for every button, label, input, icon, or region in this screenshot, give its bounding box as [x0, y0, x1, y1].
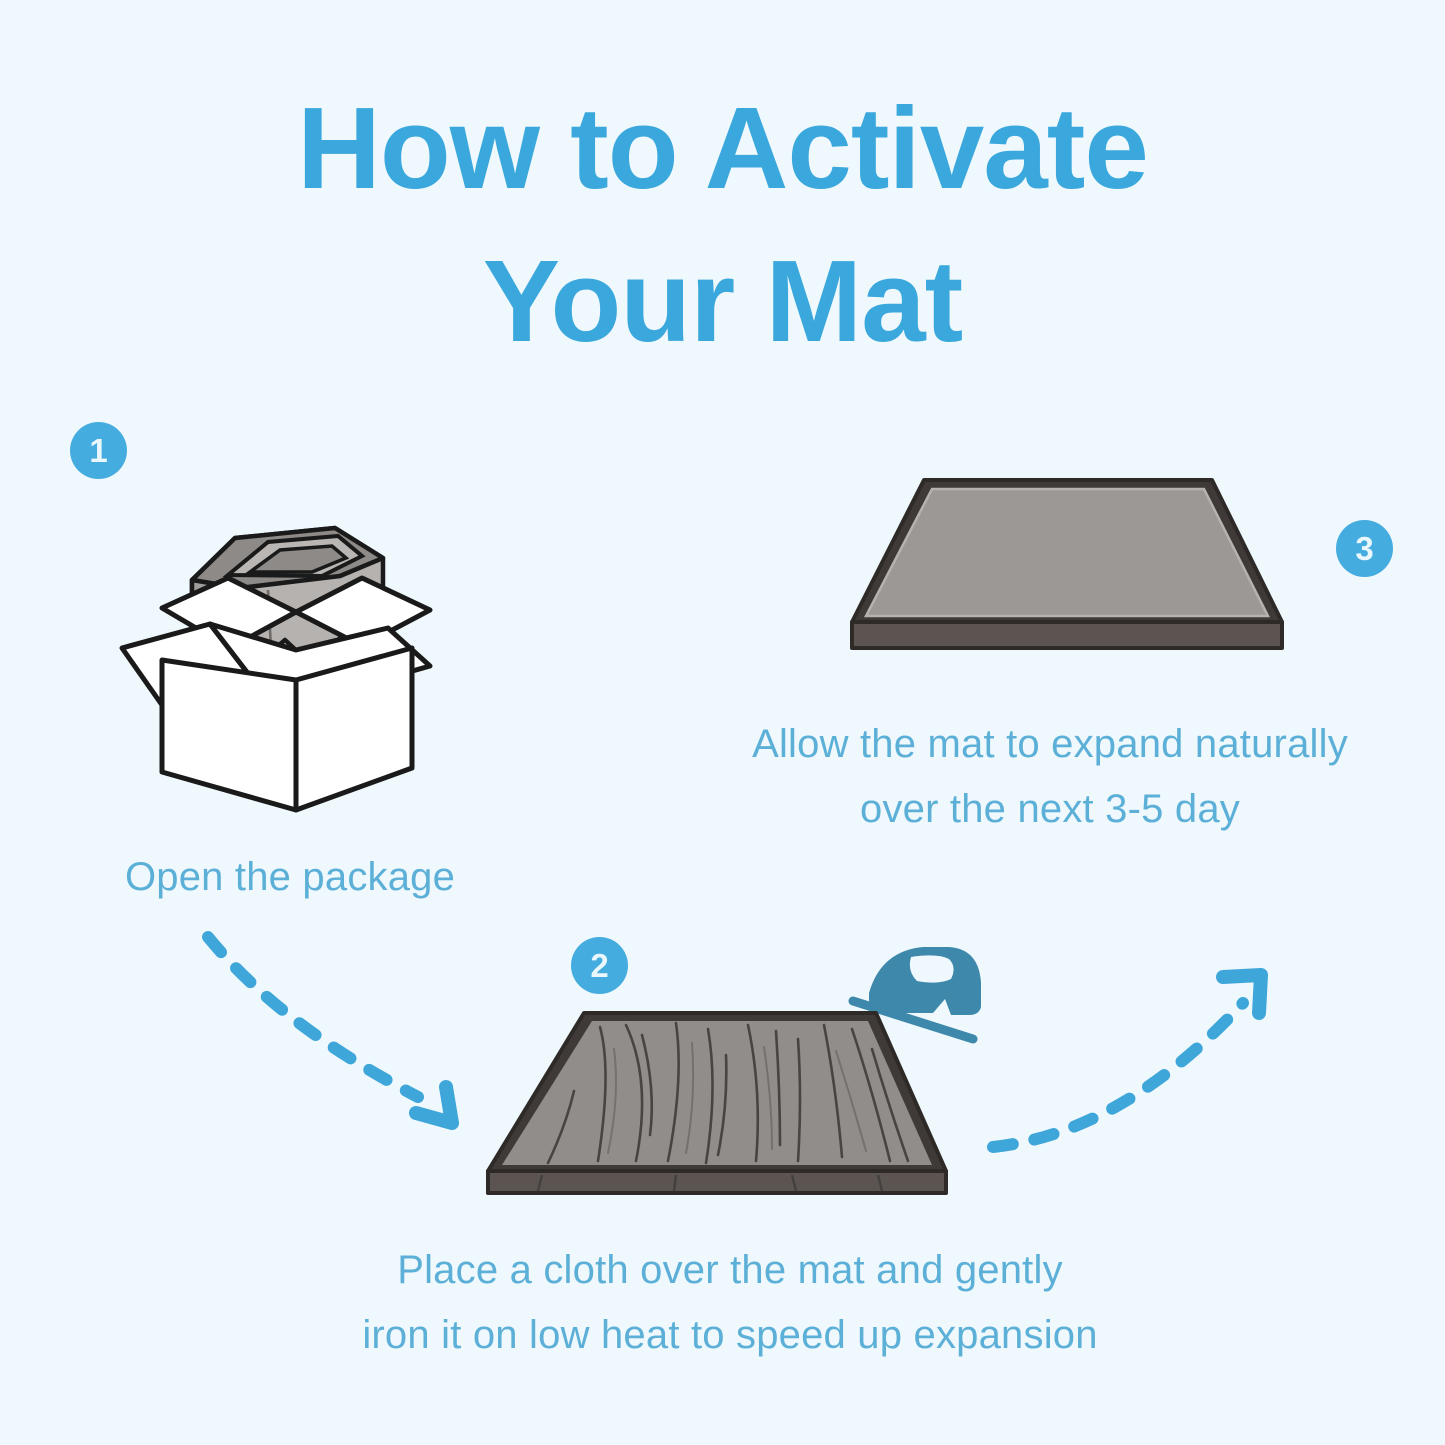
step-2-number: 2 — [590, 949, 608, 982]
open-box-icon — [100, 480, 460, 830]
step-1-badge: 1 — [70, 422, 127, 479]
step-3-number: 3 — [1355, 532, 1373, 565]
dashed-curved-arrow-down-right-icon — [160, 915, 500, 1155]
step-3-caption-line-2: over the next 3-5 day — [660, 777, 1440, 842]
step-1-caption: Open the package — [40, 845, 540, 910]
dashed-curved-arrow-up-right-icon — [975, 955, 1295, 1190]
step-3-caption: Allow the mat to expand naturally over t… — [660, 712, 1440, 842]
step-2-caption: Place a cloth over the mat and gently ir… — [240, 1238, 1220, 1368]
infographic-poster: How to Activate Your Mat 1 — [0, 0, 1445, 1445]
step-1-number: 1 — [89, 434, 107, 467]
title-line-1: How to Activate — [0, 72, 1445, 225]
step-3-badge: 3 — [1336, 520, 1393, 577]
step-3-caption-line-1: Allow the mat to expand naturally — [660, 712, 1440, 777]
flat-mat-icon — [830, 470, 1330, 670]
page-title: How to Activate Your Mat — [0, 72, 1445, 378]
title-line-2: Your Mat — [0, 225, 1445, 378]
step-2-caption-line-2: iron it on low heat to speed up expansio… — [240, 1303, 1220, 1368]
step-2-caption-line-1: Place a cloth over the mat and gently — [240, 1238, 1220, 1303]
wrinkled-mat-icon — [480, 995, 990, 1225]
step-2-badge: 2 — [571, 937, 628, 994]
